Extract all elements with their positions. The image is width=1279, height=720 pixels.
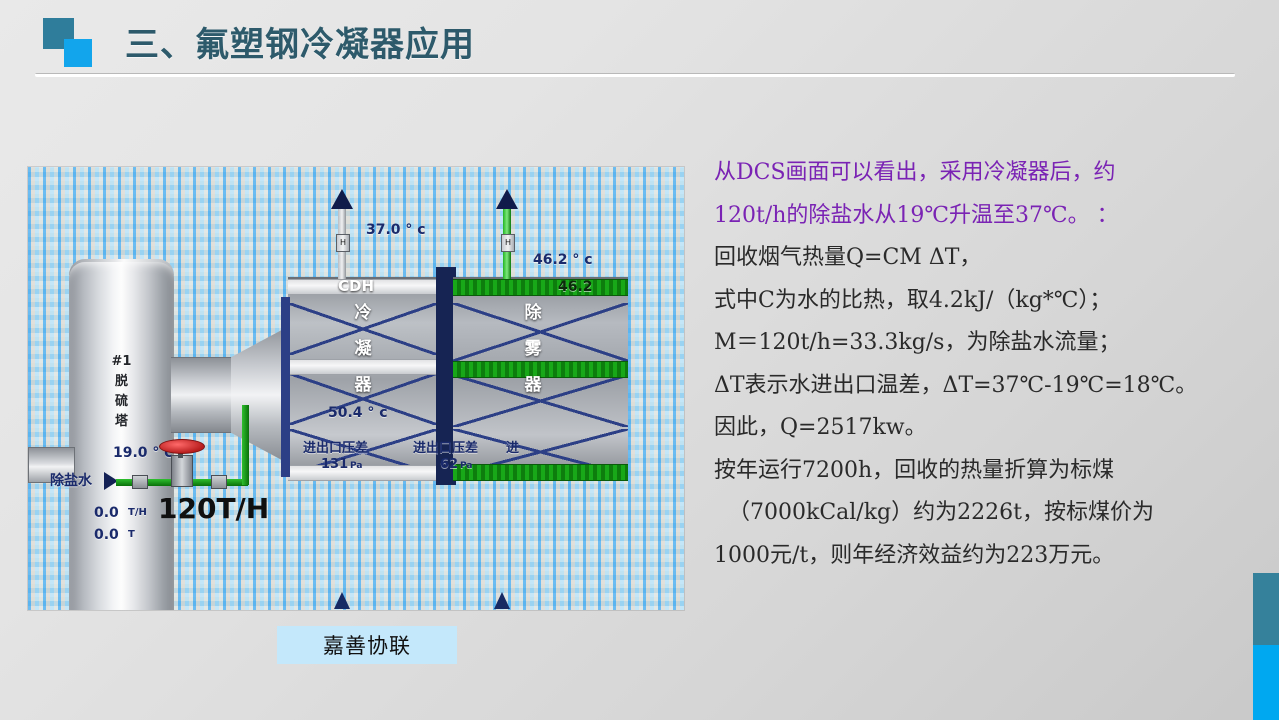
- accent-bar-bottom-segment: [1253, 645, 1279, 720]
- demister-tray-top: [453, 279, 628, 296]
- demister-tray-bottom: [453, 464, 628, 481]
- absorber-name-char-3: 塔: [69, 412, 174, 432]
- reading-dp-unit-2: Pa: [460, 461, 472, 471]
- reading-demister-outlet-temp: 46.2 ° c: [533, 252, 593, 268]
- body-line-5: M＝120t/h=33.3kg/s，为除盐水流量；: [714, 322, 1254, 365]
- absorber-name-char-1: 脱: [69, 372, 174, 392]
- condenser-tray-bottom: [288, 465, 438, 481]
- demister-stack-flange: H: [501, 234, 515, 252]
- water-inlet-pipe-vertical: [242, 405, 249, 485]
- accent-bar-top-segment: [1253, 573, 1279, 645]
- reading-dp-value-2: 62: [440, 457, 458, 472]
- condenser-left-column: [281, 297, 290, 477]
- isolation-valve-downstream: [211, 475, 227, 489]
- page-title: 三、氟塑钢冷凝器应用: [125, 17, 475, 66]
- condenser-label-char-3: 器: [328, 367, 398, 403]
- body-line-3: 回收烟气热量Q=CM ΔT，: [714, 237, 1254, 280]
- body-line-2: 120t/h的除盐水从19℃升温至37℃。 ：: [714, 195, 1254, 238]
- body-line-6: ΔT表示水进出口温差，ΔT=37℃-19℃=18℃。: [714, 365, 1254, 408]
- demister-label-char-1: 除: [498, 295, 568, 331]
- label-dp-1: 进出口压差: [303, 437, 368, 456]
- absorber-name-char-2: 硫: [69, 392, 174, 412]
- absorber-tower: [69, 262, 174, 610]
- dcs-screenshot-figure: #1 脱 硫 塔 CDH 冷 凝 器: [28, 167, 684, 610]
- control-valve-actuator-icon: [159, 439, 205, 454]
- bottom-flow-arrow-1-icon: [334, 592, 350, 609]
- reading-water-total: 0.0: [94, 527, 119, 543]
- control-valve-body: [171, 455, 193, 487]
- condenser-label-char-1: 冷: [328, 295, 398, 331]
- reading-outlet-gas-temp: 37.0 ° c: [366, 222, 426, 238]
- demister-label-char-3: 器: [498, 367, 568, 403]
- body-line-1: 从DCS画面可以看出，采用冷凝器后，约: [714, 152, 1254, 195]
- flue-gas-duct: [171, 357, 233, 433]
- accent-bar: [1253, 573, 1279, 720]
- body-line-8: 按年运行7200h，回收的热量折算为标煤: [714, 450, 1254, 493]
- reading-design-flow: 120T/H: [158, 492, 269, 525]
- demister-label-char-2: 雾: [498, 331, 568, 367]
- body-line-10: 1000元/t，则年经济效益约为223万元。: [714, 535, 1254, 578]
- condenser-label-char-2: 凝: [328, 331, 398, 367]
- label-demineralized-water: 除盐水: [50, 470, 92, 490]
- reading-water-flow-rate-unit: T/H: [128, 507, 147, 518]
- decorative-square-light-icon: [64, 39, 92, 67]
- isolation-valve-upstream: [132, 475, 148, 489]
- absorber-tower-label: #1 脱 硫 塔: [69, 352, 174, 432]
- demister-stack-arrow-icon: [496, 189, 518, 209]
- body-line-7: 因此，Q=2517kw。: [714, 407, 1254, 450]
- reading-dp-value-1: 131: [321, 457, 348, 472]
- bottom-flow-arrow-2-icon: [494, 592, 510, 609]
- title-divider: [35, 73, 1235, 77]
- label-dp-2: 进出口压差: [413, 437, 478, 456]
- body-line-4: 式中C为水的比热，取4.2kJ/（kg*℃）；: [714, 280, 1254, 323]
- figure-caption-box: 嘉善协联: [277, 626, 457, 664]
- condenser-stack-flange: H: [336, 234, 350, 252]
- slide-header: 三、氟塑钢冷凝器应用: [0, 0, 1279, 90]
- reading-demister-tray-temp: 46.2: [558, 279, 593, 295]
- cdh-label: CDH: [296, 277, 416, 295]
- body-text-block: 从DCS画面可以看出，采用冷凝器后，约 120t/h的除盐水从19℃升温至37℃…: [714, 152, 1254, 577]
- reading-condenser-inlet-temp: 50.4 ° c: [328, 405, 388, 421]
- reading-dp-unit-1: Pa: [350, 461, 362, 471]
- slide: 三、氟塑钢冷凝器应用 #1 脱 硫 塔 CDH 冷 凝 器: [0, 0, 1279, 720]
- figure-caption-text: 嘉善协联: [323, 630, 411, 660]
- reading-water-flow-rate: 0.0: [94, 505, 119, 521]
- reading-water-total-unit: T: [128, 529, 135, 540]
- label-dp-3: 进: [506, 437, 519, 456]
- absorber-tag: #1: [69, 352, 174, 372]
- body-line-9: （7000kCal/kg）约为2226t，按标煤价为: [714, 492, 1254, 535]
- condenser-stack-arrow-icon: [331, 189, 353, 209]
